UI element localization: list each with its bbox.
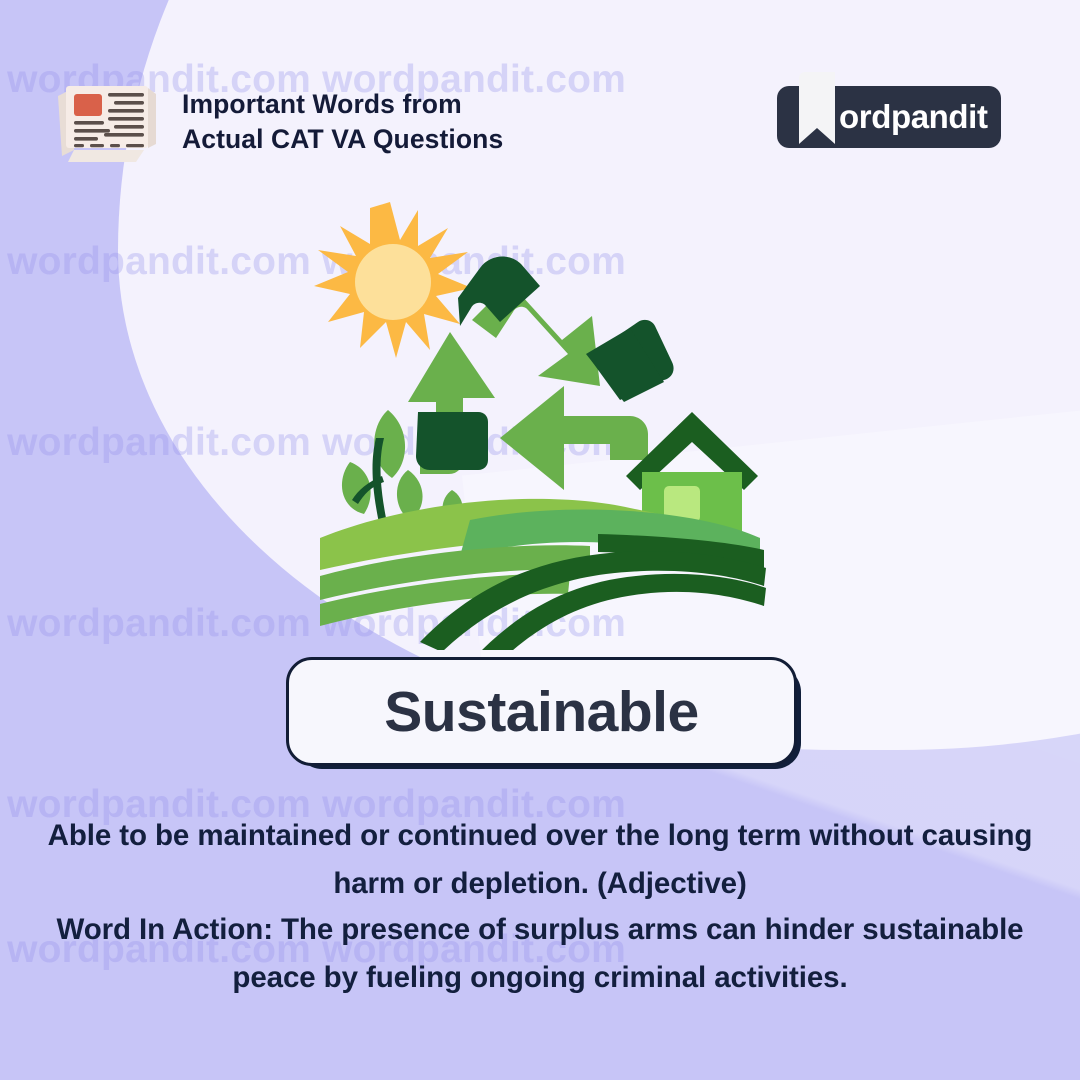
sun-icon — [314, 202, 472, 358]
wordpandit-logo[interactable]: ordpandit — [777, 86, 1001, 148]
logo-text: ordpandit — [839, 98, 988, 136]
plant-sprout-icon — [342, 410, 423, 528]
sustainability-illustration — [300, 190, 770, 650]
poster-canvas: it.com wordpandit.com wordpandit.com it.… — [0, 0, 1080, 1080]
word-in-action-text: Word In Action: The presence of surplus … — [40, 906, 1040, 1002]
word-title: Sustainable — [384, 679, 698, 745]
newspaper-icon — [52, 78, 164, 164]
header: Important Words from Actual CAT VA Quest… — [52, 78, 503, 164]
bookmark-icon — [793, 72, 835, 144]
header-title: Important Words from Actual CAT VA Quest… — [182, 87, 503, 157]
definition-text: Able to be maintained or continued over … — [40, 812, 1040, 908]
green-field-icon — [320, 499, 766, 650]
word-card: Sustainable — [286, 657, 791, 760]
word-card-body: Sustainable — [286, 657, 797, 766]
